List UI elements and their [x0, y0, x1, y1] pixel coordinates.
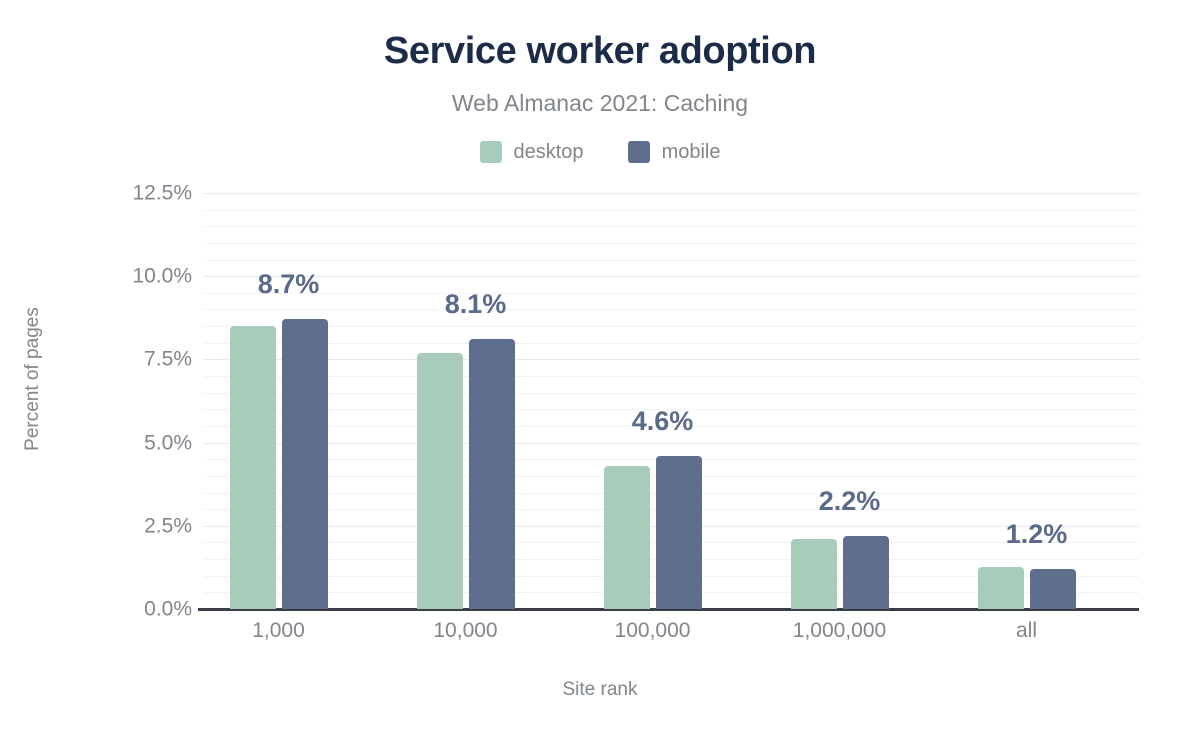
- bar-value-label: 8.7%: [189, 268, 389, 300]
- x-axis-tick-label: 10,000: [366, 618, 566, 644]
- x-axis-tick-label: all: [927, 618, 1127, 644]
- bar-desktop-2[interactable]: [604, 466, 650, 609]
- bar-desktop-3[interactable]: [791, 539, 837, 609]
- bar-mobile-4[interactable]: [1030, 569, 1076, 609]
- x-axis-title: Site rank: [0, 678, 1200, 702]
- bars-layer: 8.7%1,0008.1%10,0004.6%100,0002.2%1,000,…: [0, 0, 1200, 742]
- bar-mobile-1[interactable]: [469, 339, 515, 609]
- bar-value-label: 8.1%: [376, 288, 576, 320]
- bar-mobile-3[interactable]: [843, 536, 889, 609]
- x-axis-tick-label: 100,000: [553, 618, 753, 644]
- bar-value-label: 2.2%: [750, 485, 950, 517]
- bar-desktop-4[interactable]: [978, 567, 1024, 609]
- bar-desktop-0[interactable]: [230, 326, 276, 609]
- bar-value-label: 1.2%: [937, 518, 1137, 550]
- bar-mobile-2[interactable]: [656, 456, 702, 609]
- bar-mobile-0[interactable]: [282, 319, 328, 609]
- x-axis-tick-label: 1,000,000: [740, 618, 940, 644]
- bar-value-label: 4.6%: [563, 405, 763, 437]
- chart-container: Service worker adoption Web Almanac 2021…: [0, 0, 1200, 742]
- x-axis-tick-label: 1,000: [179, 618, 379, 644]
- bar-desktop-1[interactable]: [417, 353, 463, 609]
